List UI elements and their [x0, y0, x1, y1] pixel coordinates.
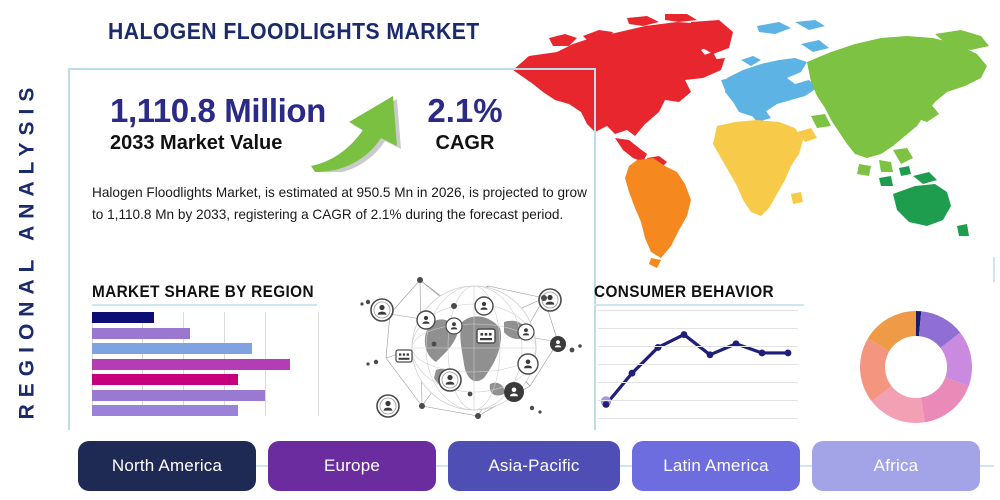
bar-chart-bars	[92, 312, 320, 416]
region-tab-africa[interactable]: Africa	[812, 441, 980, 491]
market-share-heading: MARKET SHARE BY REGION	[92, 283, 314, 302]
bar-row	[92, 312, 320, 323]
donut-segment	[921, 378, 969, 423]
description-text: Halogen Floodlights Market, is estimated…	[92, 182, 592, 226]
region-tab-north-america[interactable]: North America	[78, 441, 256, 491]
bar-segment	[92, 405, 238, 416]
bar-row	[92, 343, 320, 354]
global-network-globe-icon	[358, 266, 590, 428]
market-share-bar-chart	[92, 312, 320, 416]
bar-row	[92, 405, 320, 416]
market-value: 1,110.8 Million	[110, 92, 326, 130]
line-chart-gridlines	[598, 310, 798, 418]
side-label: REGIONAL ANALYSIS	[0, 0, 58, 500]
bar-segment	[92, 390, 265, 401]
consumer-behavior-rule	[594, 304, 804, 306]
region-tabs: North AmericaEuropeAsia-PacificLatin Ame…	[78, 441, 990, 491]
consumer-behavior-heading: CONSUMER BEHAVIOR	[594, 283, 774, 302]
region-tab-label: Asia-Pacific	[488, 456, 579, 476]
market-value-caption: 2033 Market Value	[110, 132, 326, 155]
regional-distribution-donut-chart	[855, 306, 977, 428]
region-tab-label: Europe	[324, 456, 380, 476]
bar-segment	[92, 343, 252, 354]
market-share-rule	[92, 304, 317, 306]
tab-connector-end	[980, 465, 994, 467]
cagr-value: 2.1%	[410, 92, 520, 130]
bar-segment	[92, 328, 190, 339]
bar-row	[92, 390, 320, 401]
bar-row	[92, 359, 320, 370]
consumer-behavior-line-chart	[598, 310, 798, 418]
market-value-block: 1,110.8 Million 2033 Market Value	[110, 92, 326, 155]
bar-segment	[92, 374, 238, 385]
region-tab-label: North America	[112, 456, 222, 476]
infographic-canvas: REGIONAL ANALYSIS HALOGEN FLOODLIGHTS MA…	[0, 0, 1000, 500]
region-tab-label: Africa	[874, 456, 919, 476]
growth-arrow-icon	[305, 88, 415, 172]
cagr-block: 2.1% CAGR	[410, 92, 520, 155]
bar-row	[92, 328, 320, 339]
region-tab-europe[interactable]: Europe	[268, 441, 436, 491]
cagr-caption: CAGR	[410, 132, 520, 155]
card-right-edge	[993, 257, 995, 282]
page-title: HALOGEN FLOODLIGHTS MARKET	[108, 18, 480, 45]
region-tab-label: Latin America	[663, 456, 769, 476]
region-tab-asia-pacific[interactable]: Asia-Pacific	[448, 441, 620, 491]
bar-segment	[92, 312, 154, 323]
headline-row: 1,110.8 Million 2033 Market Value 2.1% C…	[110, 92, 580, 172]
bar-row	[92, 374, 320, 385]
bar-segment	[92, 359, 290, 370]
side-label-text: REGIONAL ANALYSIS	[15, 81, 39, 420]
region-tab-latin-america[interactable]: Latin America	[632, 441, 800, 491]
